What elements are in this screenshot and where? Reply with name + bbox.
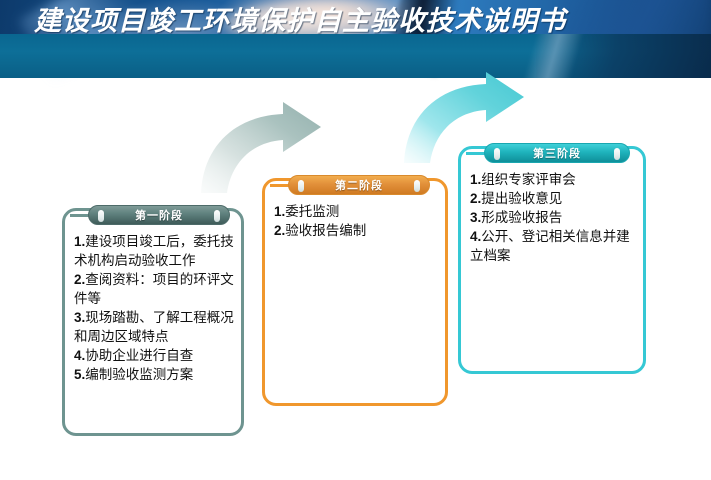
list-item: 2.提出验收意见 xyxy=(470,189,638,208)
phase-1-header-pill[interactable]: 第一阶段 xyxy=(88,205,230,225)
phase-1-label: 第一阶段 xyxy=(135,207,183,223)
phase-1-item-list: 1.建设项目竣工后，委托技术机构启动验收工作 2.查阅资料：项目的环评文件等 3… xyxy=(74,232,237,384)
list-item: 1.组织专家评审会 xyxy=(470,170,638,189)
pill-screw-right-icon xyxy=(614,148,620,160)
list-item: 2.查阅资料：项目的环评文件等 xyxy=(74,270,237,308)
list-item: 4.协助企业进行自查 xyxy=(74,346,237,365)
list-item: 3.形成验收报告 xyxy=(470,208,638,227)
pill-screw-left-icon xyxy=(298,180,304,192)
list-item: 1.建设项目竣工后，委托技术机构启动验收工作 xyxy=(74,232,237,270)
pill-screw-left-icon xyxy=(494,148,500,160)
phase-2-label: 第二阶段 xyxy=(335,177,383,193)
phase-3-label: 第三阶段 xyxy=(533,145,581,161)
phase-2-header-pill[interactable]: 第二阶段 xyxy=(288,175,430,195)
list-item: 3.现场踏勘、了解工程概况和周边区域特点 xyxy=(74,308,237,346)
pill-screw-right-icon xyxy=(414,180,420,192)
list-item: 2.验收报告编制 xyxy=(274,221,439,240)
pill-screw-left-icon xyxy=(98,210,104,222)
phase-3-item-list: 1.组织专家评审会 2.提出验收意见 3.形成验收报告 4.公开、登记相关信息并… xyxy=(470,170,638,265)
page-title: 建设项目竣工环境保护自主验收技术说明书 xyxy=(34,0,566,44)
list-item: 4.公开、登记相关信息并建立档案 xyxy=(470,227,638,265)
slide-canvas: 建设项目竣工环境保护自主验收技术说明书 第一阶段 xyxy=(0,0,711,480)
phase-2-item-list: 1.委托监测 2.验收报告编制 xyxy=(274,202,439,240)
pill-screw-right-icon xyxy=(214,210,220,222)
list-item: 5.编制验收监测方案 xyxy=(74,365,237,384)
list-item: 1.委托监测 xyxy=(274,202,439,221)
phase-3-header-pill[interactable]: 第三阶段 xyxy=(484,143,630,163)
